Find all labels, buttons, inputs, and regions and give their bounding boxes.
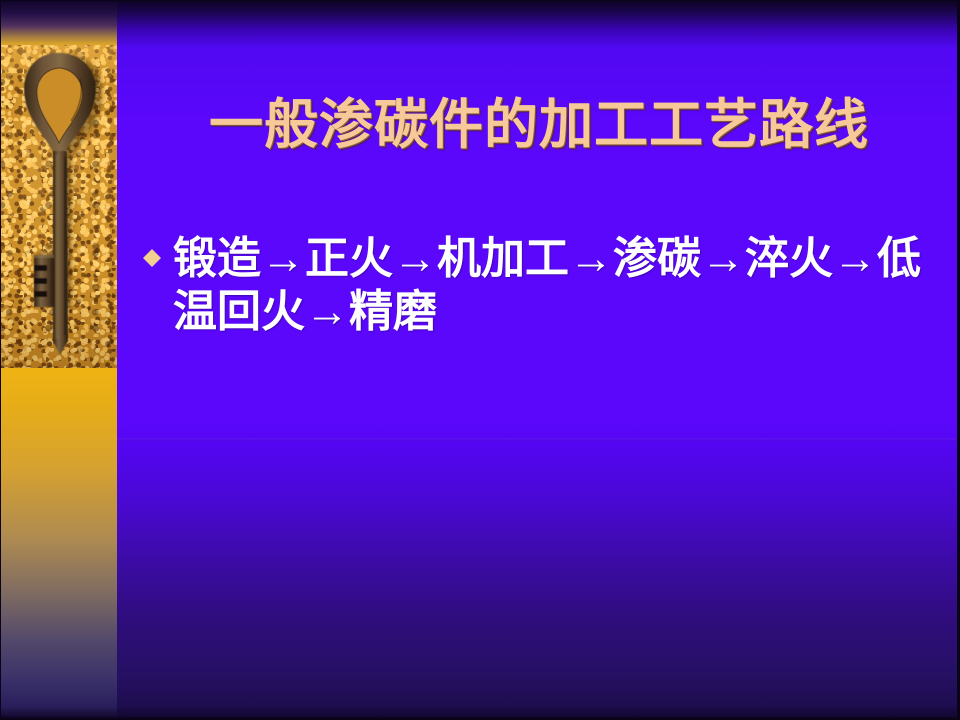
slide: 一般渗碳件的加工工艺路线 锻造→正火→机加工→渗碳→淬火→低温回火→精磨 — [0, 0, 960, 720]
slide-title: 一般渗碳件的加工工艺路线 — [118, 92, 960, 158]
key-icon — [10, 45, 110, 368]
diamond-bullet-icon — [143, 240, 161, 258]
sidebar-photo — [0, 45, 117, 368]
sidebar-decoration — [0, 0, 117, 720]
slide-body: 锻造→正火→机加工→渗碳→淬火→低温回火→精磨 — [140, 232, 930, 338]
bullet-text: 锻造→正火→机加工→渗碳→淬火→低温回火→精磨 — [173, 232, 930, 338]
list-item: 锻造→正火→机加工→渗碳→淬火→低温回火→精磨 — [140, 232, 930, 338]
